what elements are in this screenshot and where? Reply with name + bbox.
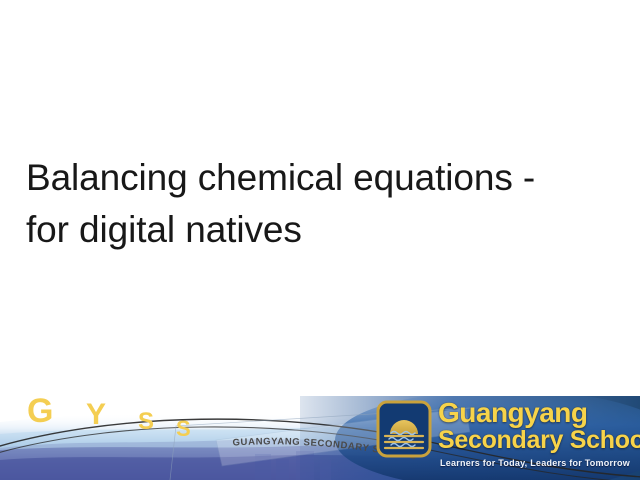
logo-word-secondary-school: Secondary School (438, 428, 638, 453)
school-logo: Guangyang Secondary School Learners for … (372, 396, 640, 480)
title-line-2: for digital natives (26, 204, 616, 256)
slide-title: Balancing chemical equations - for digit… (26, 152, 616, 256)
sunrise-over-waves-crest-icon (376, 400, 432, 458)
school-tagline: Learners for Today, Leaders for Tomorrow (440, 458, 638, 468)
title-line-1: Balancing chemical equations - (26, 152, 616, 204)
logo-word-guangyang: Guangyang (438, 399, 638, 427)
school-logo-wordmark: Guangyang Secondary School Learners for … (438, 397, 638, 468)
presentation-slide: Balancing chemical equations - for digit… (0, 0, 640, 480)
